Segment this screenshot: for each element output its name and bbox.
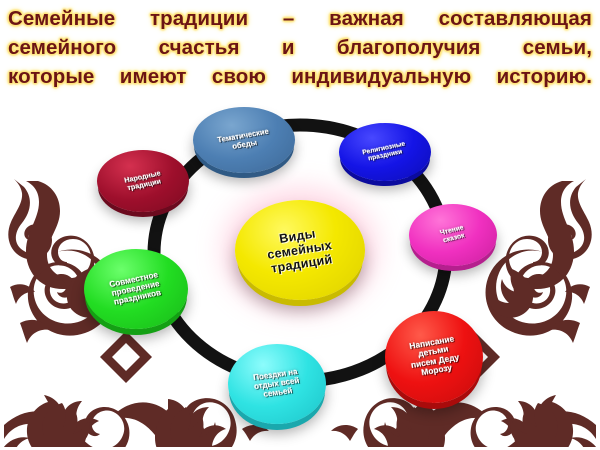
node-pisma-dedu-morozu[interactable]: Написание детьми писем Деду Морозу	[385, 311, 483, 403]
node-label: Тематические обеды	[217, 127, 271, 153]
slide-canvas: Семейные традиции – важная составляющая …	[0, 0, 600, 450]
title-line-2: семейного счастья и благополучия семьи,	[8, 33, 592, 62]
cycle-diagram: Виды семейных традиций Тематические обед…	[0, 95, 600, 450]
title-line-1: Семейные традиции – важная составляющая	[8, 4, 592, 33]
node-sovmestnoe-provedenie[interactable]: Совместное проведение праздников	[84, 249, 188, 329]
node-chtenie-skazok[interactable]: Чтение сказок	[409, 204, 497, 266]
node-label: Поездки на отдых всей семьей	[253, 368, 302, 401]
node-label: Совместное проведение праздников	[109, 270, 163, 307]
node-poezdki-na-otdyh[interactable]: Поездки на отдых всей семьей	[228, 344, 326, 424]
node-label: Религиозные праздники	[362, 140, 408, 163]
node-narodnye-tradicii[interactable]: Народные традиции	[97, 150, 189, 212]
node-label: Чтение сказок	[440, 225, 467, 246]
node-label: Народные традиции	[123, 169, 162, 192]
title-line-3: которые имеют свою индивидуальную истори…	[8, 62, 592, 91]
node-tematicheskie-obedy[interactable]: Тематические обеды	[193, 107, 295, 173]
slide-title: Семейные традиции – важная составляющая …	[0, 4, 600, 91]
center-node-label: Виды семейных традиций	[265, 224, 336, 276]
center-node[interactable]: Виды семейных традиций	[235, 200, 365, 300]
node-religioznye-prazdniki[interactable]: Религиозные праздники	[339, 123, 431, 181]
node-label: Написание детьми писем Деду Морозу	[407, 334, 462, 380]
